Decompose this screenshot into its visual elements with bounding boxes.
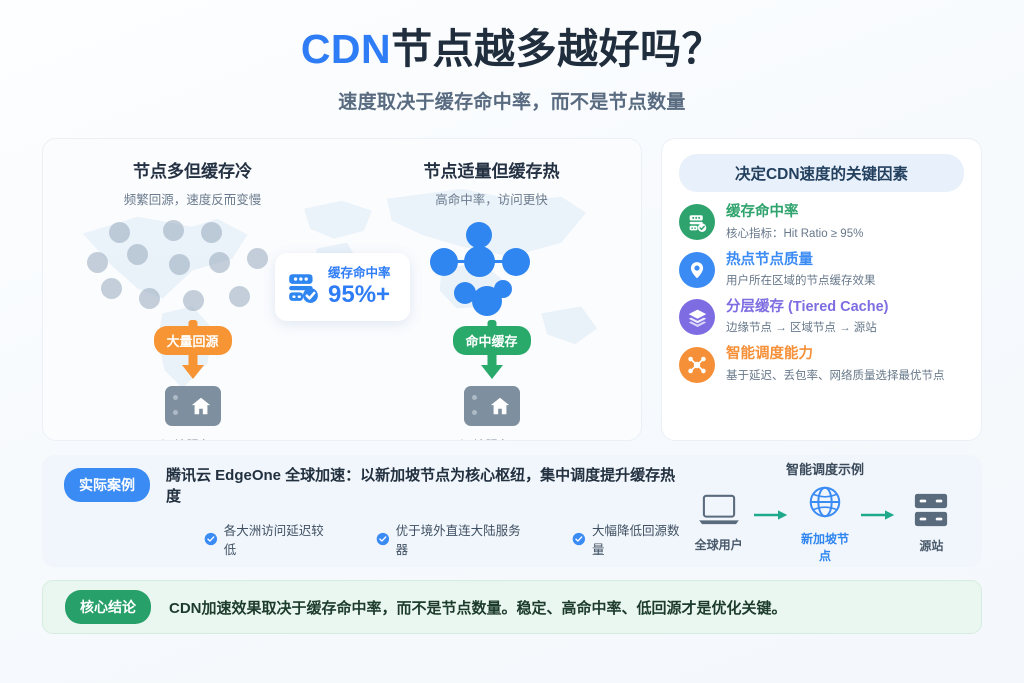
cold-server-label: 源站服务器: [43, 435, 342, 441]
hit-rate-value: 95%+: [328, 282, 391, 307]
case-study-content: 实际案例 腾讯云 EdgeOne 全球加速：以新加坡节点为核心枢纽，集中调度提升…: [64, 464, 690, 558]
flow-arrow-icon: [861, 508, 896, 522]
arrow-head-icon: [182, 365, 204, 379]
layers-icon: [679, 299, 715, 335]
case-bullet-label: 大幅降低回源数量: [592, 520, 690, 558]
flow-node-origin: 源站: [903, 492, 960, 554]
factor-title: 分层缓存 (Tiered Cache): [726, 299, 889, 316]
server-led: [472, 395, 477, 400]
cold-node-dot: [183, 290, 204, 311]
comparison-card: 节点多但缓存冷 频繁回源，速度反而变慢: [42, 138, 642, 441]
hot-flow-arrow: 命中缓存: [342, 320, 641, 386]
conclusion-bar: 核心结论 CDN加速效果取决于缓存命中率，而不是节点数量。稳定、高命中率、低回源…: [42, 580, 982, 634]
home-icon: [489, 395, 511, 417]
title-accent: CDN: [301, 26, 391, 72]
server-check-icon: [679, 204, 715, 240]
page-title: CDN节点越多越好吗？: [0, 26, 1024, 73]
check-circle-icon: [204, 532, 218, 546]
cold-flow-pill: 大量回源: [153, 326, 231, 355]
cold-node-dot: [169, 254, 190, 275]
factor-item-tiered-cache: 分层缓存 (Tiered Cache) 边缘节点 → 区域节点 → 源站: [679, 299, 964, 335]
hot-node: [464, 246, 495, 277]
server-led: [173, 410, 178, 415]
hot-node: [494, 280, 512, 298]
server-led: [472, 410, 477, 415]
factor-desc: 边缘节点 → 区域节点 → 源站: [726, 319, 889, 335]
case-bullet-label: 优于境外直连大陆服务器: [396, 520, 531, 558]
case-bullet-list: 各大洲访问延迟较低 优于境外直连大陆服务器 大幅降低回源数量: [64, 520, 690, 558]
location-pin-icon: [679, 252, 715, 288]
title-rest: 节点越多越好吗？: [391, 26, 723, 72]
key-factors-card: 决定CDN速度的关键因素 缓存命中率 核心指标：Hit Rati: [661, 138, 982, 441]
hot-subtitle: 高命中率，访问更快: [342, 189, 641, 208]
factor-title: 热点节点质量: [726, 252, 876, 269]
factor-desc: 核心指标：Hit Ratio ≥ 95%: [726, 225, 863, 241]
factor-title: 缓存命中率: [726, 204, 863, 221]
cold-origin-server-icon: [165, 386, 221, 426]
cold-node-dot: [109, 222, 130, 243]
factor-item-cache-hit-rate: 缓存命中率 核心指标：Hit Ratio ≥ 95%: [679, 204, 964, 240]
flow-node-label: 源站: [903, 537, 960, 554]
factor-desc: 用户所在区域的节点缓存效果: [726, 272, 876, 288]
hot-flow-pill: 命中缓存: [452, 326, 530, 355]
conclusion-badge: 核心结论: [65, 590, 151, 624]
cold-node-dot: [87, 252, 108, 273]
case-bullet: 优于境外直连大陆服务器: [376, 520, 530, 558]
server-led: [173, 395, 178, 400]
factor-item-node-quality: 热点节点质量 用户所在区域的节点缓存效果: [679, 252, 964, 288]
cold-node-dot: [209, 252, 230, 273]
header: CDN节点越多越好吗？ 速度取决于缓存命中率，而不是节点数量: [0, 0, 1024, 114]
flow-node-user: 全球用户: [690, 493, 747, 553]
cold-node-dot: [139, 288, 160, 309]
flow-node-label: 新加坡节点: [796, 530, 853, 564]
check-circle-icon: [572, 532, 586, 546]
hot-node: [430, 248, 458, 276]
case-study-panel: 实际案例 腾讯云 EdgeOne 全球加速：以新加坡节点为核心枢纽，集中调度提升…: [42, 455, 982, 567]
hit-rate-label: 缓存命中率: [328, 267, 391, 280]
cold-node-dot: [201, 222, 222, 243]
scheduling-flow-diagram: 智能调度示例 全球用户: [690, 459, 960, 564]
infographic-page: CDN节点越多越好吗？ 速度取决于缓存命中率，而不是节点数量: [0, 0, 1024, 683]
cold-node-dot: [163, 220, 184, 241]
cold-title: 节点多但缓存冷: [43, 157, 342, 182]
case-bullet-label: 各大洲访问延迟较低: [224, 520, 334, 558]
hit-rate-card: 缓存命中率 95%+: [275, 253, 410, 321]
flow-title: 智能调度示例: [690, 459, 960, 478]
cold-node-dot: [127, 244, 148, 265]
globe-icon: [806, 483, 844, 521]
cold-node-dot: [247, 248, 268, 269]
factor-item-smart-scheduling: 智能调度能力 基于延迟、丢包率、网络质量选择最优节点: [679, 346, 964, 382]
home-icon: [190, 395, 212, 417]
flow-node-label: 全球用户: [690, 536, 747, 553]
hot-node: [466, 222, 492, 248]
case-bullet: 各大洲访问延迟较低: [204, 520, 334, 558]
factors-heading: 决定CDN速度的关键因素: [679, 154, 964, 192]
middle-row: 节点多但缓存冷 频繁回源，速度反而变慢: [0, 138, 1024, 441]
cold-flow-arrow: 大量回源: [43, 320, 342, 386]
server-rack-icon: [911, 492, 951, 528]
conclusion-text: CDN加速效果取决于缓存命中率，而不是节点数量。稳定、高命中率、低回源才是优化关…: [169, 597, 787, 618]
cold-node-dot: [229, 286, 250, 307]
page-subtitle: 速度取决于缓存命中率，而不是节点数量: [0, 87, 1024, 114]
case-badge: 实际案例: [64, 468, 150, 502]
arrow-head-icon: [481, 365, 503, 379]
hot-origin-server-icon: [464, 386, 520, 426]
hot-server-label: 源站服务器: [342, 435, 641, 441]
network-hub-icon: [679, 347, 715, 383]
laptop-icon: [696, 493, 742, 527]
hot-node: [502, 248, 530, 276]
check-circle-icon: [376, 532, 390, 546]
server-check-icon: [286, 270, 320, 304]
cold-node-dot: [101, 278, 122, 299]
factor-title: 智能调度能力: [726, 346, 945, 363]
flow-arrow-icon: [754, 508, 789, 522]
cold-subtitle: 频繁回源，速度反而变慢: [43, 189, 342, 208]
case-bullet: 大幅降低回源数量: [572, 520, 690, 558]
flow-node-singapore: 新加坡节点: [796, 483, 853, 564]
case-headline: 腾讯云 EdgeOne 全球加速：以新加坡节点为核心枢纽，集中调度提升缓存热度: [166, 464, 690, 506]
hot-title: 节点适量但缓存热: [342, 157, 641, 182]
factor-desc: 基于延迟、丢包率、网络质量选择最优节点: [726, 367, 945, 383]
